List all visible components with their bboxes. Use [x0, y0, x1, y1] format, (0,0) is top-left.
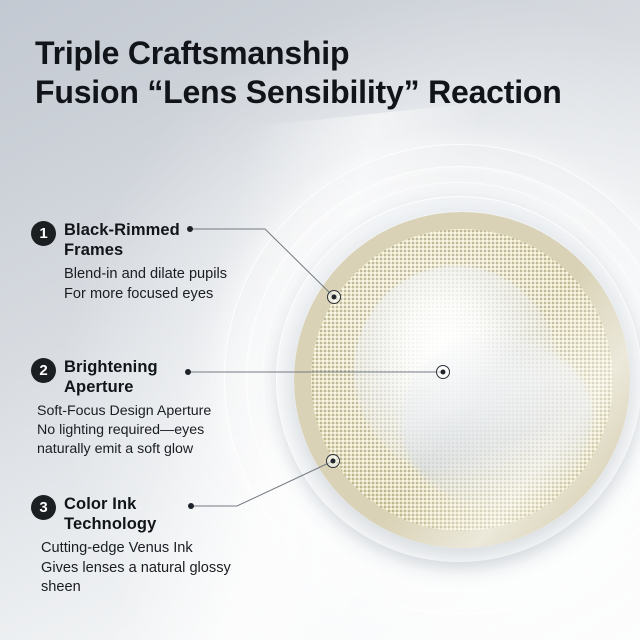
- annotation-black-rimmed-frames: 1 Black-Rimmed Frames Blend-in and dilat…: [31, 220, 306, 304]
- annotation-3-title-line-2: Technology: [64, 514, 156, 534]
- lens-edge-sheen: [294, 212, 630, 548]
- annotation-2-badge: 2: [31, 358, 56, 383]
- annotation-2-body-line-1: Soft-Focus Design Aperture: [37, 402, 306, 421]
- annotation-2-header: 2 Brightening Aperture: [31, 357, 306, 397]
- black-rimmed-frames-marker[interactable]: [327, 290, 341, 304]
- annotation-3-body-line-3: sheen: [41, 578, 306, 598]
- product-infographic: Triple Craftsmanship Fusion “Lens Sensib…: [0, 0, 640, 640]
- annotation-brightening-aperture: 2 Brightening Aperture Soft-Focus Design…: [31, 357, 306, 459]
- annotation-3-title: Color Ink Technology: [64, 494, 156, 534]
- annotation-2-body-line-3: naturally emit a soft glow: [37, 440, 306, 459]
- annotation-3-header: 3 Color Ink Technology: [31, 494, 306, 534]
- annotation-1-body-line-2: For more focused eyes: [64, 285, 306, 305]
- contact-lens-image: [294, 212, 630, 548]
- headline-line-2: Fusion “Lens Sensibility” Reaction: [35, 73, 615, 112]
- annotation-2-title: Brightening Aperture: [64, 357, 158, 397]
- annotation-3-badge: 3: [31, 495, 56, 520]
- annotation-3-body-line-1: Cutting-edge Venus Ink: [41, 539, 306, 559]
- annotation-1-body-line-1: Blend-in and dilate pupils: [64, 265, 306, 285]
- annotation-1-body: Blend-in and dilate pupils For more focu…: [64, 265, 306, 304]
- annotation-1-header: 1 Black-Rimmed Frames: [31, 220, 306, 260]
- annotation-2-title-line-1: Brightening: [64, 357, 158, 377]
- annotation-2-title-line-2: Aperture: [64, 377, 158, 397]
- headline-line-1: Triple Craftsmanship: [35, 34, 615, 73]
- annotation-2-body-line-2: No lighting required—eyes: [37, 421, 306, 440]
- annotation-3-title-line-1: Color Ink: [64, 494, 156, 514]
- brightening-aperture-marker[interactable]: [436, 365, 450, 379]
- annotation-3-body-line-2: Gives lenses a natural glossy: [41, 559, 306, 579]
- annotation-2-body: Soft-Focus Design Aperture No lighting r…: [37, 402, 306, 459]
- annotation-color-ink-technology: 3 Color Ink Technology Cutting-edge Venu…: [31, 494, 306, 598]
- annotation-3-body: Cutting-edge Venus Ink Gives lenses a na…: [41, 539, 306, 598]
- annotation-1-title-line-1: Black-Rimmed: [64, 220, 180, 240]
- color-ink-technology-marker[interactable]: [326, 454, 340, 468]
- annotation-1-title: Black-Rimmed Frames: [64, 220, 180, 260]
- page-title: Triple Craftsmanship Fusion “Lens Sensib…: [35, 34, 615, 112]
- annotation-1-badge: 1: [31, 221, 56, 246]
- annotation-1-title-line-2: Frames: [64, 240, 180, 260]
